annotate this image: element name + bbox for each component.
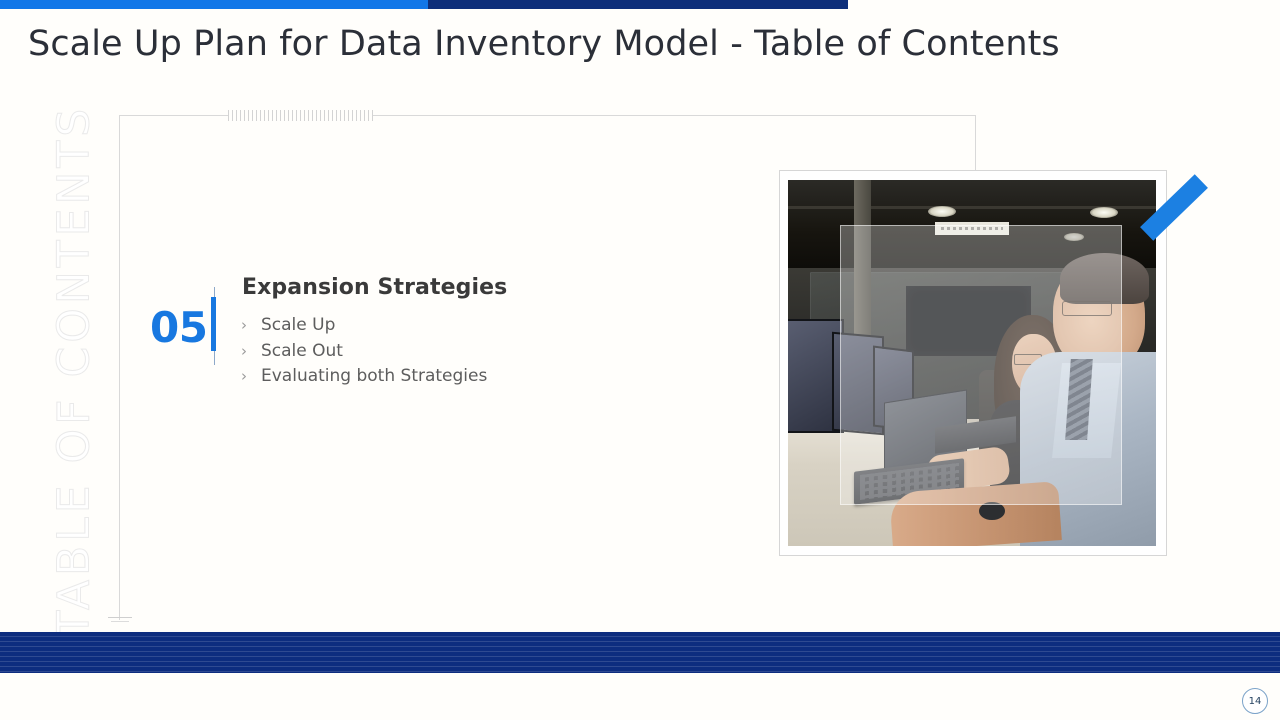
section-number: 05 bbox=[150, 303, 207, 352]
frame-left-foot-cap-secondary bbox=[111, 621, 129, 622]
frame-top-line-right bbox=[373, 115, 975, 116]
frame-left-foot-cap bbox=[108, 617, 132, 618]
top-accent-bar-navy bbox=[428, 0, 848, 9]
frame-top-line-left bbox=[119, 115, 228, 116]
bottom-accent-bar bbox=[0, 632, 1280, 673]
photo-ceiling-light bbox=[928, 206, 956, 217]
list-item: › Scale Up bbox=[241, 313, 487, 339]
page-number-badge: 14 bbox=[1242, 688, 1268, 714]
frame-top-hatch-pattern bbox=[228, 110, 373, 121]
section-bullet-list: › Scale Up › Scale Out › Evaluating both… bbox=[241, 313, 487, 390]
frame-right-line bbox=[975, 115, 976, 173]
table-of-contents-watermark: TABLE OF CONTENTS bbox=[49, 158, 100, 638]
top-accent-bar-blue bbox=[0, 0, 428, 9]
list-item-label: Evaluating both Strategies bbox=[261, 364, 487, 390]
section-divider-accent-bar bbox=[211, 297, 216, 351]
list-item-label: Scale Up bbox=[261, 313, 335, 339]
list-item: › Scale Out bbox=[241, 339, 487, 365]
page-title: Scale Up Plan for Data Inventory Model -… bbox=[28, 24, 1060, 64]
chevron-right-icon: › bbox=[241, 364, 261, 390]
chevron-right-icon: › bbox=[241, 313, 261, 339]
list-item-label: Scale Out bbox=[261, 339, 343, 365]
section-heading: Expansion Strategies bbox=[242, 275, 507, 300]
photo-translucent-overlay bbox=[840, 225, 1122, 505]
list-item: › Evaluating both Strategies bbox=[241, 364, 487, 390]
chevron-right-icon: › bbox=[241, 339, 261, 365]
frame-left-line bbox=[119, 115, 120, 620]
